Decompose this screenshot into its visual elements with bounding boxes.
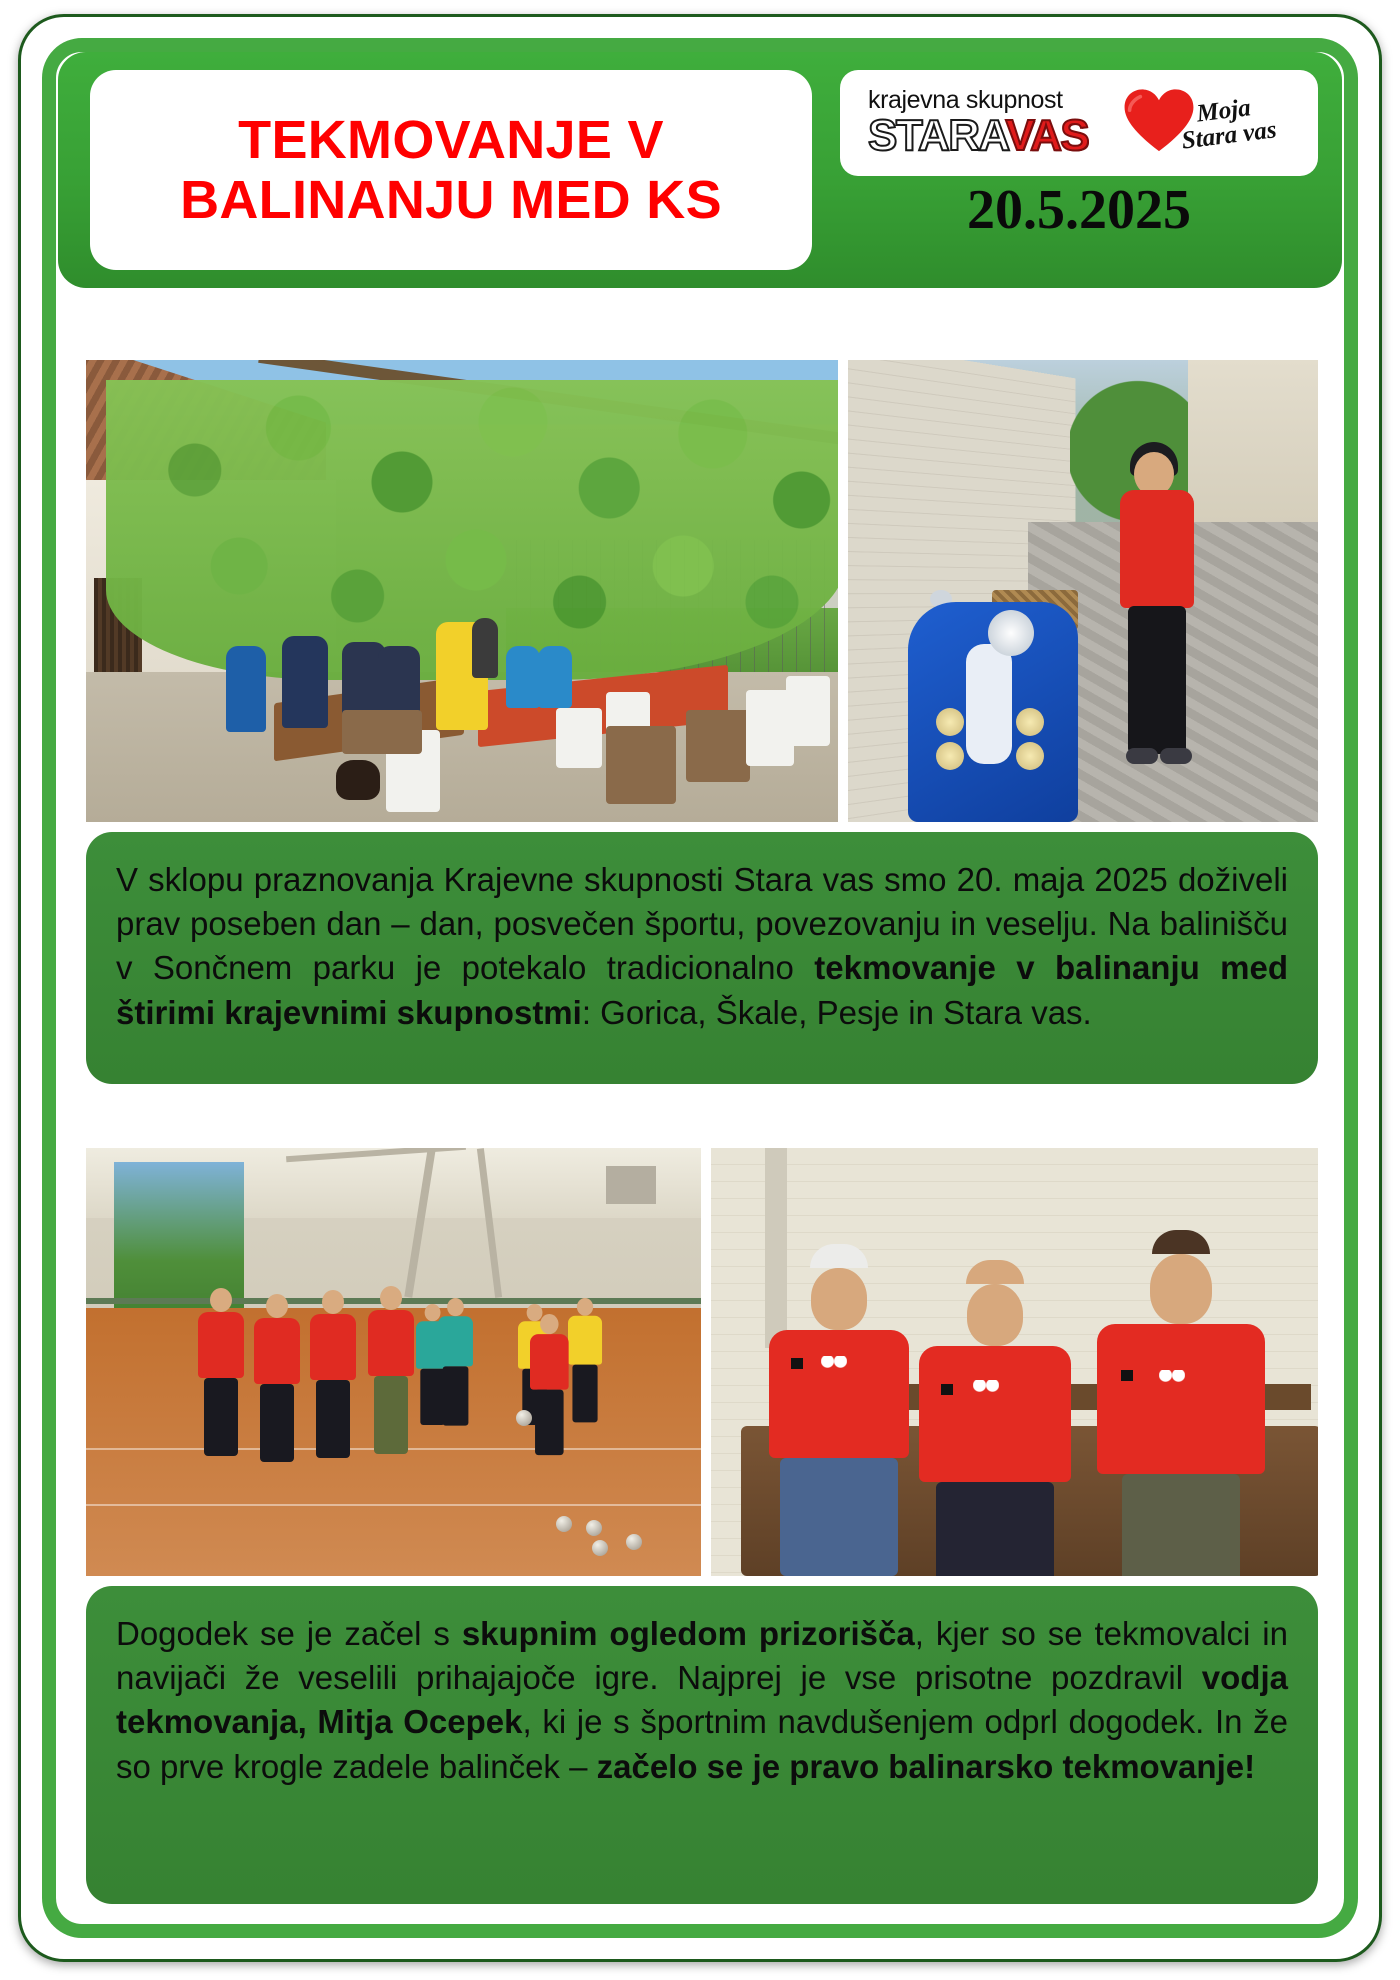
photo-court xyxy=(86,1148,701,1576)
logo-wordmark-vas: VAS xyxy=(1006,111,1089,160)
para2-seg-1: skupnim ogledom prizorišča xyxy=(462,1615,915,1652)
article-paragraph-2: Dogodek se je začel s skupnim ogledom pr… xyxy=(86,1586,1318,1904)
event-date: 20.5.2025 xyxy=(840,182,1318,238)
paragraph-2-text: Dogodek se je začel s skupnim ogledom pr… xyxy=(116,1612,1288,1789)
article-paragraph-1: V sklopu praznovanja Krajevne skupnosti … xyxy=(86,832,1318,1084)
logo-wordmark-stara: STARA xyxy=(868,111,1006,160)
title-card: TEKMOVANJE V BALINANJU MED KS xyxy=(90,70,812,270)
logo-wordmark: STARAVAS xyxy=(868,115,1118,157)
paragraph-1-text: V sklopu praznovanja Krajevne skupnosti … xyxy=(116,858,1288,1035)
para1-seg-2: : Gorica, Škale, Pesje in Stara vas. xyxy=(582,994,1092,1031)
photo-scooter xyxy=(848,360,1318,822)
page-title: TEKMOVANJE V BALINANJU MED KS xyxy=(180,110,722,231)
logo-kicker: krajevna skupnost xyxy=(868,88,1118,113)
photo-terrace xyxy=(86,360,838,822)
photo-row-top xyxy=(86,360,1318,822)
logo-script-text: Moja Stara vas xyxy=(1177,92,1278,153)
poster-page: TEKMOVANJE V BALINANJU MED KS krajevna s… xyxy=(0,0,1400,1980)
para2-seg-5: začelo se je pravo balinarsko tekmovanje… xyxy=(597,1748,1255,1785)
organization-logo: krajevna skupnost STARAVAS Moja Stara va… xyxy=(840,70,1318,176)
logo-text-group: krajevna skupnost STARAVAS xyxy=(868,88,1118,157)
para2-seg-0: Dogodek se je začel s xyxy=(116,1615,462,1652)
photo-bench xyxy=(711,1148,1318,1576)
photo-row-bottom xyxy=(86,1148,1318,1576)
